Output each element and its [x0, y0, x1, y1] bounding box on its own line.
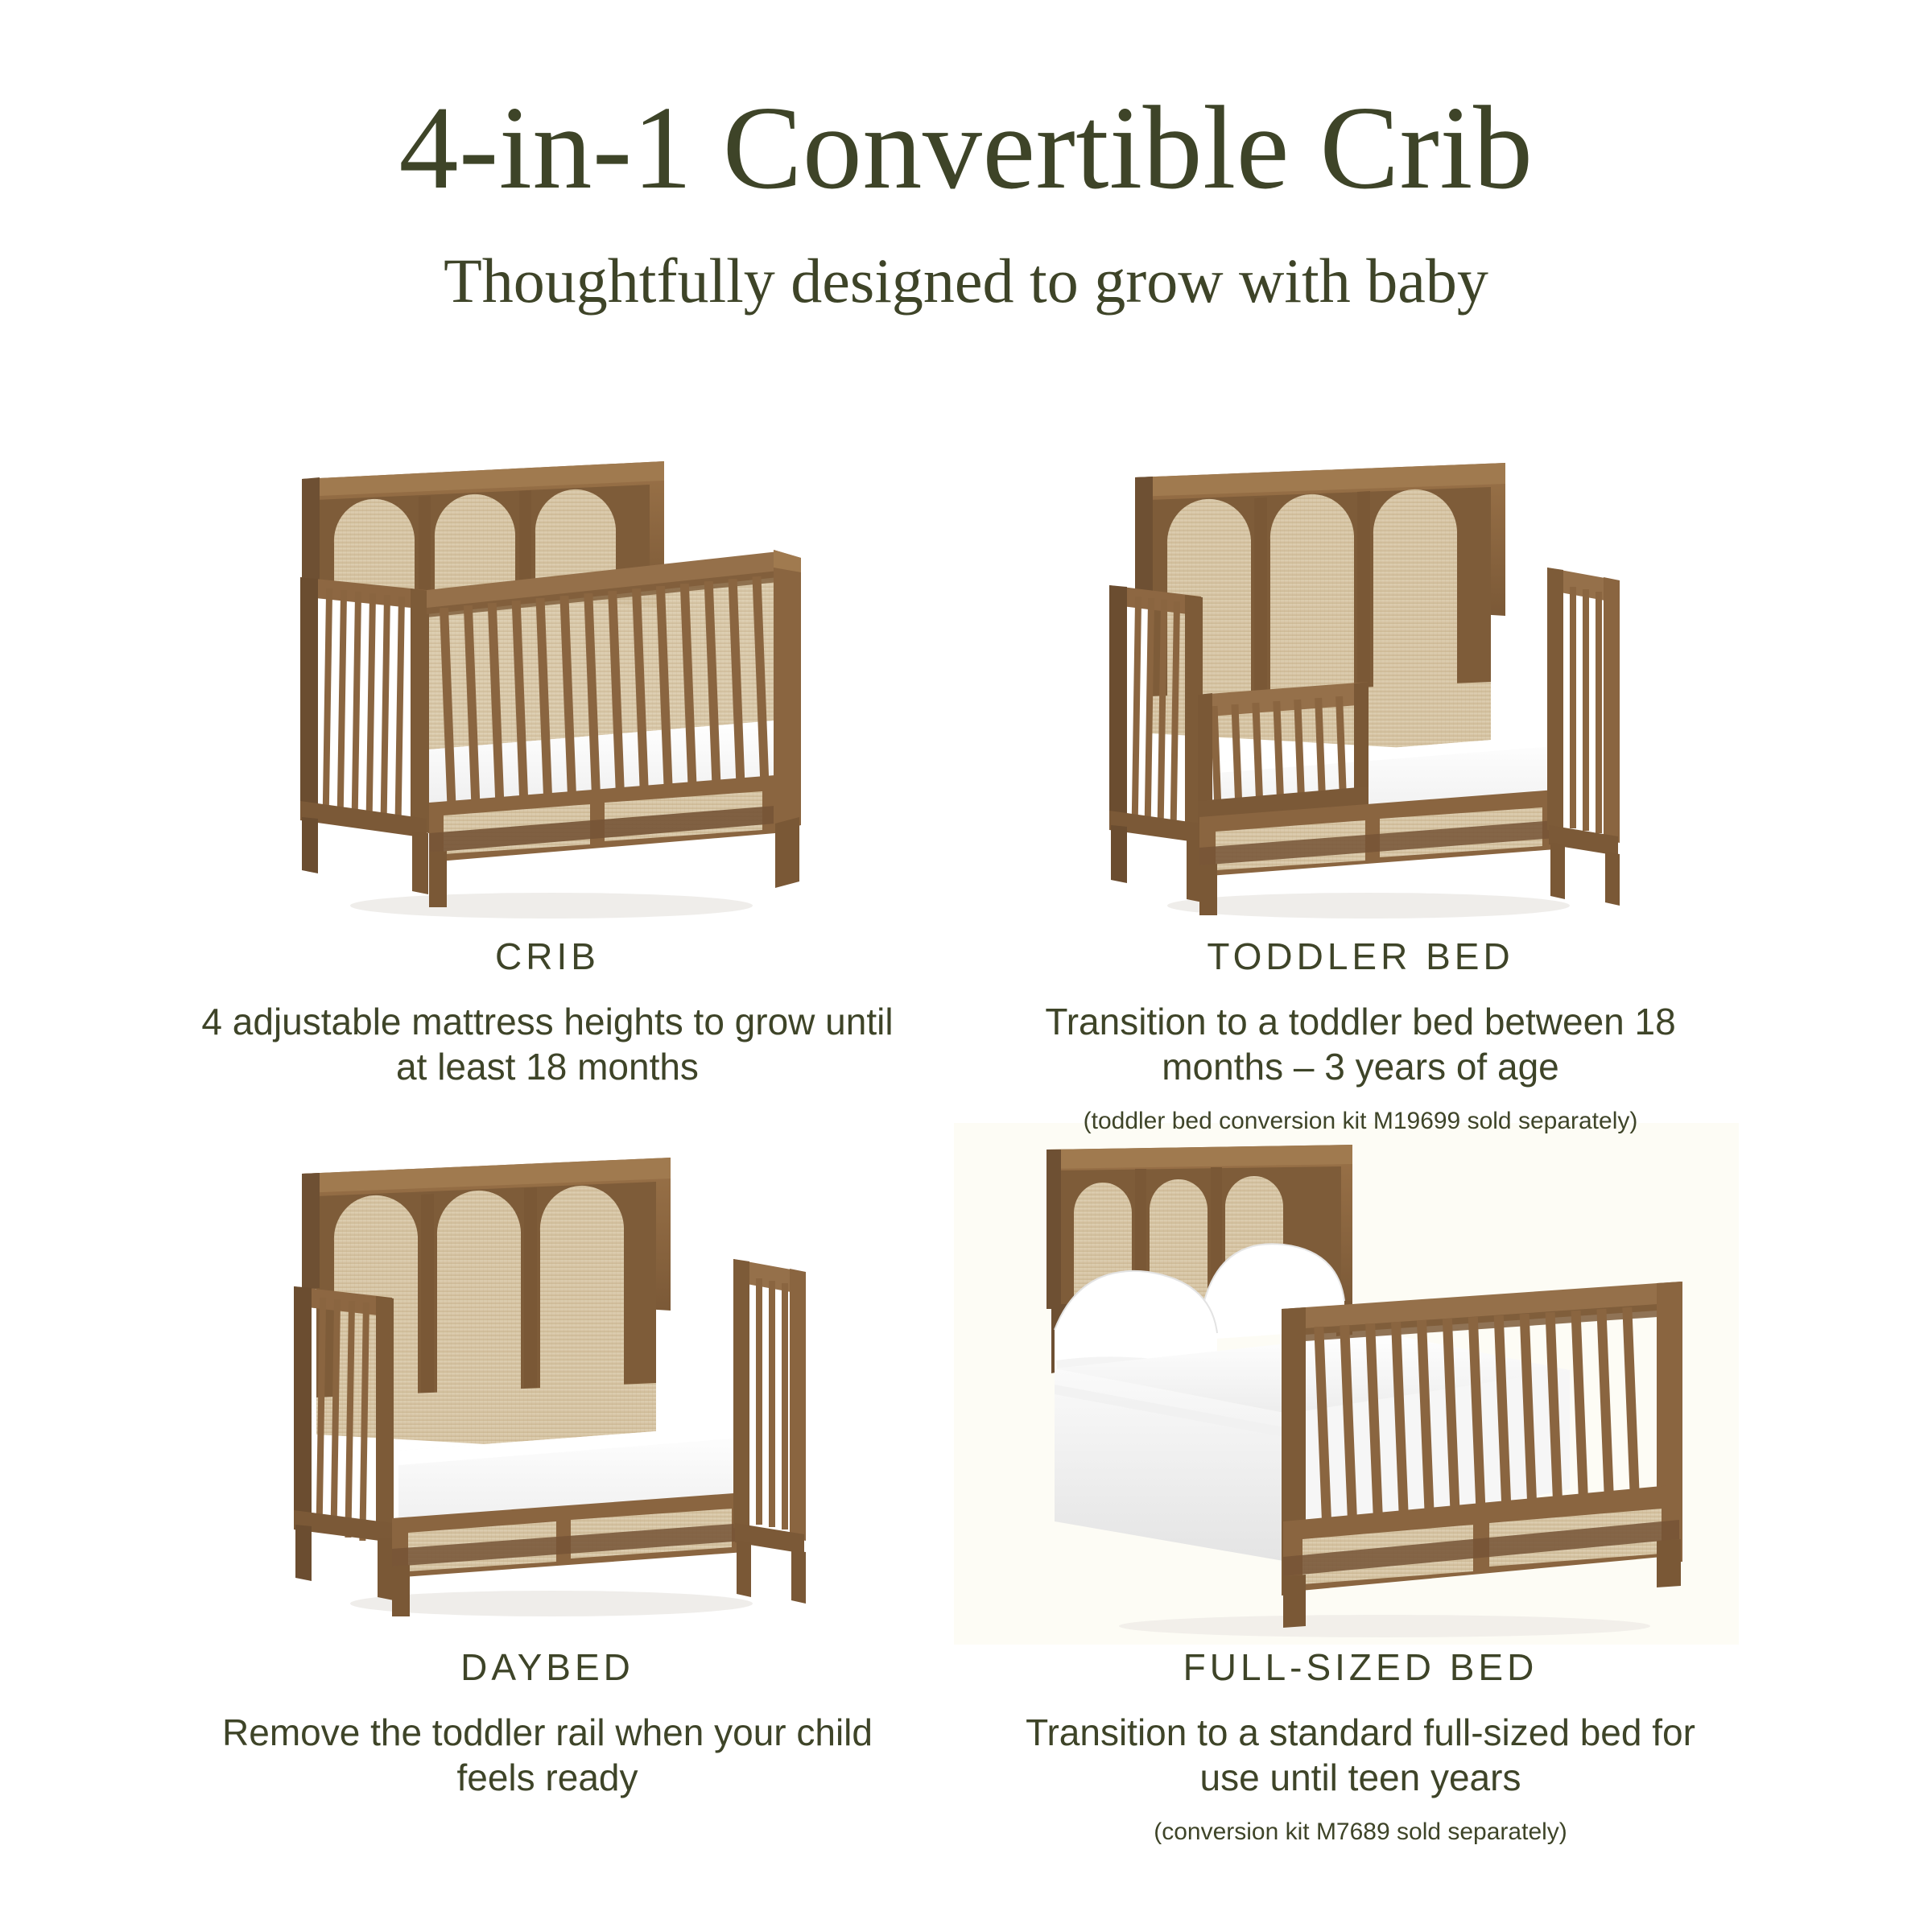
daybed-right-end-panel: [733, 1259, 806, 1604]
full-bed-illustration: [1006, 1143, 1755, 1642]
caption-daybed: DAYBED Remove the toddler rail when your…: [185, 1649, 910, 1800]
caption-description-full-sized-bed: Transition to a standard full-sized bed …: [998, 1710, 1723, 1800]
toddler-cane-arches: [1167, 489, 1457, 712]
page-title: 4-in-1 Convertible Crib: [0, 89, 1932, 208]
caption-label-full-sized-bed: FULL-SIZED BED: [998, 1649, 1723, 1686]
crib-front-rail: [427, 551, 778, 862]
caption-full-sized-bed: FULL-SIZED BED Transition to a standard …: [998, 1649, 1723, 1847]
crib-left-end-panel: [300, 577, 429, 894]
caption-description-toddler-bed: Transition to a toddler bed between 18 m…: [998, 999, 1723, 1089]
product-image-toddler-bed: [1103, 455, 1634, 930]
product-image-crib: [286, 455, 817, 930]
caption-toddler-bed: TODDLER BED Transition to a toddler bed …: [998, 938, 1723, 1136]
caption-crib: CRIB 4 adjustable mattress heights to gr…: [185, 938, 910, 1089]
product-image-daybed: [286, 1151, 817, 1626]
caption-fineprint-toddler-bed: (toddler bed conversion kit M19699 sold …: [998, 1107, 1723, 1136]
caption-description-crib: 4 adjustable mattress heights to grow un…: [185, 999, 910, 1089]
crib-right-end-panel: [774, 550, 801, 888]
toddler-guard-rail: [1198, 682, 1368, 824]
caption-label-daybed: DAYBED: [185, 1649, 910, 1686]
caption-description-daybed: Remove the toddler rail when your child …: [185, 1710, 910, 1800]
toddler-bed-illustration: [1103, 455, 1634, 930]
caption-fineprint-full-sized-bed: (conversion kit M7689 sold separately): [998, 1818, 1723, 1847]
page-subtitle: Thoughtfully designed to grow with baby: [0, 250, 1932, 312]
infographic-page: 4-in-1 Convertible Crib Thoughtfully des…: [0, 0, 1932, 1932]
product-image-full-sized-bed: [1006, 1143, 1755, 1642]
daybed-illustration: [286, 1151, 817, 1626]
caption-label-toddler-bed: TODDLER BED: [998, 938, 1723, 975]
crib-illustration: [286, 455, 817, 930]
toddler-right-end-panel: [1547, 568, 1620, 906]
caption-label-crib: CRIB: [185, 938, 910, 975]
